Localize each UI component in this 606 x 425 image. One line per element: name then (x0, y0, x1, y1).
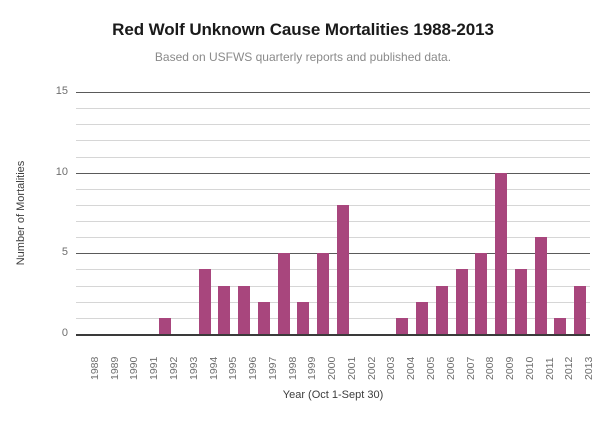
x-tick-label: 1993 (189, 357, 200, 380)
x-tick-label: 2003 (386, 357, 397, 380)
x-tick-label: 2012 (564, 357, 575, 380)
y-tick-label: 5 (8, 247, 68, 258)
x-tick-label: 1990 (129, 357, 140, 380)
x-tick-label: 1997 (268, 357, 279, 380)
bar (495, 173, 507, 334)
bars-layer (76, 92, 590, 334)
x-tick-label: 1988 (90, 357, 101, 380)
bar (297, 302, 309, 334)
x-tick-label: 1999 (307, 357, 318, 380)
bar (199, 269, 211, 334)
x-tick-label: 2013 (584, 357, 595, 380)
y-tick-label: 15 (8, 86, 68, 97)
x-tick-label: 2005 (426, 357, 437, 380)
x-tick-label: 1989 (110, 357, 121, 380)
x-tick-label: 2007 (466, 357, 477, 380)
x-tick-label: 2002 (367, 357, 378, 380)
x-axis-tick-labels: 1988198919901991199219931994199519961997… (76, 336, 590, 386)
x-tick-label: 2001 (347, 357, 358, 380)
bar (574, 286, 586, 334)
x-tick-label: 2000 (327, 357, 338, 380)
bar (396, 318, 408, 334)
bar (258, 302, 270, 334)
x-tick-label: 2010 (525, 357, 536, 380)
bar (337, 205, 349, 334)
bar (278, 253, 290, 334)
chart-container: Red Wolf Unknown Cause Mortalities 1988-… (0, 0, 606, 425)
x-tick-label: 1994 (209, 357, 220, 380)
x-tick-label: 2009 (505, 357, 516, 380)
y-tick-label: 10 (8, 167, 68, 178)
bar (475, 253, 487, 334)
x-tick-label: 1992 (169, 357, 180, 380)
bar (238, 286, 250, 334)
y-tick-label: 0 (8, 328, 68, 339)
bar (456, 269, 468, 334)
x-tick-label: 1998 (288, 357, 299, 380)
x-tick-label: 2004 (406, 357, 417, 380)
bar (159, 318, 171, 334)
y-axis-tick-labels: 051015 (0, 92, 68, 334)
chart-subtitle: Based on USFWS quarterly reports and pub… (0, 50, 606, 64)
bar (416, 302, 428, 334)
x-tick-label: 1996 (248, 357, 259, 380)
bar (317, 253, 329, 334)
x-tick-label: 1991 (149, 357, 160, 380)
bar (515, 269, 527, 334)
chart-title: Red Wolf Unknown Cause Mortalities 1988-… (0, 20, 606, 40)
bar (436, 286, 448, 334)
x-axis-title: Year (Oct 1-Sept 30) (76, 389, 590, 401)
x-tick-label: 2008 (485, 357, 496, 380)
x-tick-label: 2006 (446, 357, 457, 380)
x-tick-label: 2011 (545, 357, 556, 380)
bar (535, 237, 547, 334)
x-tick-label: 1995 (228, 357, 239, 380)
bar (554, 318, 566, 334)
bar (218, 286, 230, 334)
